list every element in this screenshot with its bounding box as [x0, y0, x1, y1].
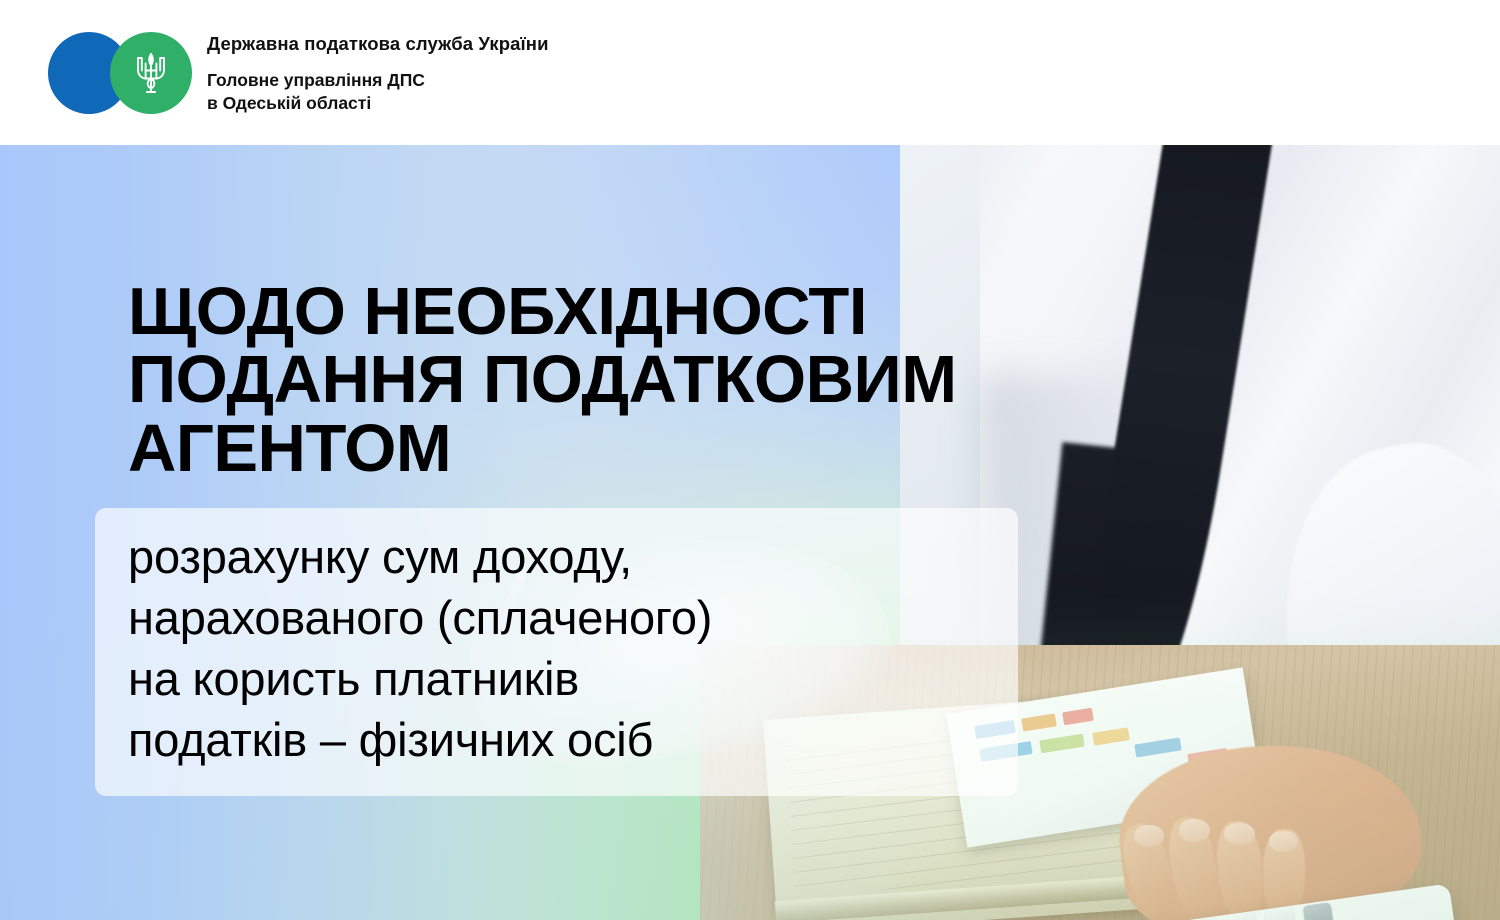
subtitle-line-2: нарахованого (сплаченого): [128, 587, 1028, 648]
page-title: ЩОДО НЕОБХІДНОСТІ ПОДАННЯ ПОДАТКОВИМ АГЕ…: [128, 278, 1028, 483]
header-text-block: Державна податкова служба України Головн…: [207, 33, 967, 116]
subtitle-line-4: податків – фізичних осіб: [128, 709, 1028, 770]
organization-title: Державна податкова служба України: [207, 33, 967, 55]
department-line-1: Головне управління ДПС: [207, 69, 967, 92]
ukraine-trident-icon: [110, 32, 192, 114]
subtitle-line-1: розрахунку сум доходу,: [128, 526, 1028, 587]
page-subtitle: розрахунку сум доходу, нарахованого (спл…: [128, 526, 1028, 770]
headline-line-1: ЩОДО НЕОБХІДНОСТІ: [128, 278, 1028, 346]
tax-service-info-banner: ЩОДО НЕОБХІДНОСТІ ПОДАННЯ ПОДАТКОВИМ АГЕ…: [0, 0, 1500, 920]
site-header: Державна податкова служба України Головн…: [0, 0, 1500, 145]
headline-line-3: АГЕНТОМ: [128, 415, 1028, 483]
headline-line-2: ПОДАННЯ ПОДАТКОВИМ: [128, 346, 1028, 414]
subtitle-line-3: на користь платників: [128, 648, 1028, 709]
trident-svg: [134, 50, 168, 96]
department-name: Головне управління ДПС в Одеській област…: [207, 69, 967, 116]
department-line-2: в Одеській області: [207, 92, 967, 115]
dps-logo: [48, 32, 198, 114]
